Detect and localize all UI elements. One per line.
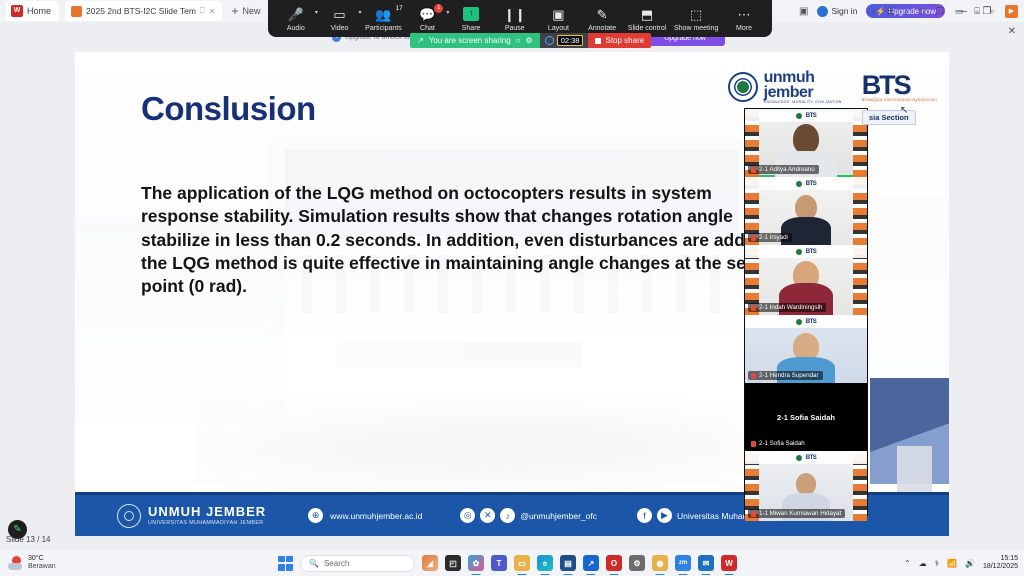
zoom-participant-video-strip[interactable]: BTS 2-1 Aditya Andreano BTS 2-1 Irsyadi … xyxy=(744,108,868,516)
zoom-control-video[interactable]: ▭ ▾ Video xyxy=(322,6,358,32)
weather-icon xyxy=(8,556,23,571)
zoom-control-label: Slide control xyxy=(628,25,667,32)
show-hidden-icons-button[interactable]: ⌃ xyxy=(904,559,911,568)
zoom-control-layout[interactable]: ▣ Layout xyxy=(540,6,576,32)
mic-muted-icon xyxy=(751,373,756,379)
network-icon[interactable]: 📶 xyxy=(947,559,957,568)
store-icon: ▤ xyxy=(564,559,572,568)
zoom-control-slide-control[interactable]: ⬒ Slide control xyxy=(628,6,667,32)
microphone-icon: 🎤 xyxy=(288,6,304,23)
slide-control-icon: ⬒ xyxy=(641,6,653,23)
unmuh-logo-line1: unmuh xyxy=(764,70,842,85)
participant-name-tag: 1-1 Miwan Kurniawan Hidayat xyxy=(748,509,845,518)
search-icon: 🔍 xyxy=(309,559,319,568)
taskbar-app-explorer-dark[interactable]: ◰ xyxy=(445,555,461,571)
clock-date: 18/12/2025 xyxy=(983,563,1018,571)
participant-head xyxy=(796,473,816,495)
outline-view-button[interactable]: ☰ xyxy=(886,6,894,17)
taskbar-app-opera[interactable]: O xyxy=(606,555,622,571)
new-tab-button[interactable]: + New xyxy=(232,5,261,17)
windows-taskbar: 30°C Berawan 🔍 Search ◢ ◰ ✿ T ▭ e ▤ ↗ O … xyxy=(0,550,1024,576)
avatar xyxy=(817,6,828,17)
taskbar-weather-widget[interactable]: 30°C Berawan xyxy=(8,555,56,570)
share-timer: 02:38 xyxy=(540,33,589,48)
screen-layout-icon[interactable]: ▣ xyxy=(799,6,808,17)
normal-view-button[interactable]: □ xyxy=(919,6,924,16)
banner-label: BTS xyxy=(806,455,817,461)
document-tab-title: 2025 2nd BTS-I2C Slide Templ xyxy=(86,6,196,16)
footer-social-handle: @unmuhjember_ofc xyxy=(520,511,597,521)
prev-slide-button[interactable]: ‹ xyxy=(872,6,875,16)
mic-muted-icon xyxy=(751,235,756,241)
slide-logo-group: unmuh jember KNOWLEDGE, MORALITY, CIVILI… xyxy=(728,70,937,105)
folder-icon: ▭ xyxy=(518,559,526,568)
start-slideshow-button[interactable]: ▶ xyxy=(1005,5,1018,18)
taskbar-app-matlab[interactable]: ↗ xyxy=(583,555,599,571)
zoom-control-pause[interactable]: ❙❙ Pause xyxy=(497,6,533,32)
health-icon[interactable]: ⚕ xyxy=(935,559,939,568)
taskbar-app-teams[interactable]: T xyxy=(491,555,507,571)
chat-bubble-icon: 💬 xyxy=(419,6,435,23)
banner-label: BTS xyxy=(806,249,817,255)
chevron-down-icon[interactable]: ▾ xyxy=(315,9,318,16)
taskbar-app-file-explorer[interactable]: ▭ xyxy=(514,555,530,571)
unmuh-logo-line2: jember xyxy=(764,85,842,100)
zoom-control-label: Chat xyxy=(420,25,435,32)
reading-view-button[interactable]: ❐ xyxy=(936,6,944,17)
taskbar-app-outlook[interactable]: ✉ xyxy=(698,555,714,571)
footer-website: ⊕ www.unmuhjember.ac.id xyxy=(308,508,422,523)
footer-website-text: www.unmuhjember.ac.id xyxy=(330,511,422,521)
home-tab[interactable]: W Home xyxy=(6,1,59,21)
taskbar-clock[interactable]: 15:15 18/12/2025 xyxy=(983,555,1018,570)
participant-name-tag: 2-1 Aditya Andreano xyxy=(748,165,819,174)
fit-view-button[interactable]: ▭ xyxy=(955,6,964,17)
system-tray: ⌃ ☁ ⚕ 📶 🔊 15:15 18/12/2025 xyxy=(904,550,1018,576)
chrome-icon: ◉ xyxy=(657,559,664,568)
zoom-control-share[interactable]: ↑ Share xyxy=(453,6,489,32)
unmuh-logo-tagline: KNOWLEDGE, MORALITY, CIVILIZATION xyxy=(764,101,842,104)
bts-logo-subtitle: Brawijaya International Symposium xyxy=(862,97,937,102)
chevron-down-icon[interactable]: ▾ xyxy=(358,9,361,16)
next-slide-button[interactable]: › xyxy=(905,6,908,16)
footer-unmuh-logo: UNMUH JEMBER UNIVERSITAS MUHAMMADIYAH JE… xyxy=(117,504,266,528)
participant-name: 1-1 Miwan Kurniawan Hidayat xyxy=(759,510,841,517)
tab-close-icon[interactable]: ✕ xyxy=(209,7,216,16)
start-button[interactable] xyxy=(278,556,293,571)
taskbar-app-zoom[interactable]: zm xyxy=(675,555,691,571)
chat-unread-badge: 1 xyxy=(434,4,443,13)
zoom-control-annotate[interactable]: ✎ Annotate xyxy=(584,6,620,32)
document-tab[interactable]: 2025 2nd BTS-I2C Slide Templ ⎕ ✕ xyxy=(65,1,222,21)
copilot-icon: ✿ xyxy=(473,559,480,568)
zoom-control-label: Annotate xyxy=(588,25,616,32)
screen-sharing-status-bar: ↗ You are screen sharing ○ ⚙ 02:38 Stop … xyxy=(410,33,651,48)
participant-name: 2-1 Indah Wardiningsih xyxy=(759,304,822,311)
pause-share-icon[interactable]: ○ xyxy=(516,36,521,45)
onedrive-icon[interactable]: ☁ xyxy=(919,559,927,568)
footer-social-group: ◎ ✕ ♪ @unmuhjember_ofc xyxy=(460,508,597,523)
video-tile[interactable]: BTS 2-1 Aditya Andreano xyxy=(745,109,867,177)
zoom-control-label: More xyxy=(736,25,752,32)
show-meeting-icon: ⬚ xyxy=(690,6,702,23)
zoom-control-audio[interactable]: 🎤 ▾ Audio xyxy=(278,6,314,32)
photos-icon: ◢ xyxy=(427,559,433,568)
participant-name-tag: 2-1 Indah Wardiningsih xyxy=(748,303,826,312)
participant-head xyxy=(793,124,819,154)
globe-icon: ⊕ xyxy=(308,508,323,523)
matlab-icon: ↗ xyxy=(588,559,595,568)
video-tile[interactable]: BTS 2-1 Hendra Supendar xyxy=(745,315,867,383)
share-settings-icon[interactable]: ⚙ xyxy=(526,36,533,45)
video-tile[interactable]: BTS 2-1 Indah Wardiningsih xyxy=(745,245,867,315)
clock-time: 15:15 xyxy=(983,555,1018,563)
bts-logo: BTS Brawijaya International Symposium xyxy=(862,73,937,102)
share-screen-icon: ↑ xyxy=(463,6,479,23)
zoom-control-show-meeting[interactable]: ⬚ Show meeting xyxy=(674,6,718,32)
opera-icon: O xyxy=(611,559,617,568)
banner-label: BTS xyxy=(806,319,817,325)
video-backdrop-banner: BTS xyxy=(745,177,867,190)
zoom-control-label: Video xyxy=(331,25,349,32)
zoom-control-participants[interactable]: 👥 17 Participants xyxy=(365,6,402,32)
pencil-icon: ✎ xyxy=(597,6,608,23)
participant-name: 2-1 Irsyadi xyxy=(759,234,788,241)
participant-name-tag: 2-1 Sofia Saidah xyxy=(748,439,809,448)
gear-icon: ⚙ xyxy=(633,559,640,568)
notes-view-button[interactable]: ▫ xyxy=(991,6,994,16)
people-icon: 👥 xyxy=(375,6,391,23)
banner-label: BTS xyxy=(806,181,817,187)
video-backdrop-banner: BTS xyxy=(745,245,867,258)
sharing-indicator: ↗ You are screen sharing ○ ⚙ xyxy=(410,33,540,48)
footer-seal-icon xyxy=(117,504,141,528)
slide-view-controls: ‹ ☰ › □ ❐ ▭ ⌸ ▫ ▶ xyxy=(872,0,1018,22)
more-dots-icon: ⋯ xyxy=(738,6,751,23)
stop-share-button[interactable]: Stop share xyxy=(588,33,651,48)
home-tab-label: Home xyxy=(27,6,51,16)
presentation-file-icon xyxy=(71,6,82,17)
video-tile[interactable]: BTS 1-1 Miwan Kurniawan Hidayat xyxy=(745,451,867,521)
taskbar-app-chrome[interactable]: ◉ xyxy=(652,555,668,571)
zoom-control-label: Participants xyxy=(365,25,402,32)
stop-square-icon xyxy=(595,38,601,44)
unmuh-jember-logo: unmuh jember KNOWLEDGE, MORALITY, CIVILI… xyxy=(728,70,842,105)
chevron-down-icon[interactable]: ▾ xyxy=(446,9,449,16)
explorer-dark-icon: ◰ xyxy=(449,559,457,568)
weather-description: Berawan xyxy=(28,563,56,571)
video-backdrop-banner: BTS xyxy=(745,451,867,464)
mic-muted-icon xyxy=(751,511,756,517)
teams-icon: T xyxy=(497,559,502,568)
video-backdrop-banner: BTS xyxy=(745,109,867,122)
camera-icon: ▭ xyxy=(333,6,345,23)
clock-icon xyxy=(545,36,554,45)
video-tile[interactable]: 2-1 Sofia Saidah 2-1 Sofia Saidah xyxy=(745,383,867,451)
share-arrow-icon: ↗ xyxy=(417,36,424,45)
participant-name-tag: 2-1 Irsyadi xyxy=(748,233,792,242)
pause-icon: ❙❙ xyxy=(504,6,526,23)
taskbar-search-box[interactable]: 🔍 Search xyxy=(300,555,415,572)
mic-muted-icon xyxy=(751,167,756,173)
video-tile[interactable]: BTS 2-1 Irsyadi xyxy=(745,177,867,245)
taskbar-app-store[interactable]: ▤ xyxy=(560,555,576,571)
taskbar-app-wps[interactable]: W xyxy=(721,555,737,571)
participant-name-tag: 2-1 Hendra Supendar xyxy=(748,371,823,380)
participant-display-name: 2-1 Sofia Saidah xyxy=(777,413,835,422)
sign-in-button[interactable]: Sign in xyxy=(817,6,857,17)
participant-name: 2-1 Sofia Saidah xyxy=(759,440,805,447)
taskbar-app-edge[interactable]: e xyxy=(537,555,553,571)
outlook-icon: ✉ xyxy=(703,559,710,568)
edge-icon: e xyxy=(543,559,547,568)
grid-view-button[interactable]: ⌸ xyxy=(974,6,979,17)
unmuh-seal-icon xyxy=(728,72,758,102)
sign-in-label: Sign in xyxy=(831,6,857,16)
zoom-control-chat[interactable]: 💬 1 ▾ Chat xyxy=(409,6,445,32)
taskbar-center-group: 🔍 Search ◢ ◰ ✿ T ▭ e ▤ ↗ O ⚙ ◉ zm ✉ W xyxy=(278,550,737,576)
video-backdrop-banner: BTS xyxy=(745,315,867,328)
participant-name: 2-1 Hendra Supendar xyxy=(759,372,819,379)
sharing-text: You are screen sharing xyxy=(429,36,511,45)
mic-muted-icon xyxy=(751,441,756,447)
slide-body-text[interactable]: The application of the LQG method on oct… xyxy=(141,182,781,298)
taskbar-app-photos[interactable]: ◢ xyxy=(422,555,438,571)
annotation-pen-badge[interactable]: ✎ xyxy=(8,520,27,539)
layout-icon: ▣ xyxy=(552,6,564,23)
footer-brand-sub: UNIVERSITAS MUHAMMADIYAH JEMBER xyxy=(148,520,266,526)
taskbar-app-copilot[interactable]: ✿ xyxy=(468,555,484,571)
zoom-control-label: Pause xyxy=(505,25,525,32)
secondary-close-icon[interactable]: ✕ xyxy=(1008,26,1016,37)
volume-icon[interactable]: 🔊 xyxy=(965,559,975,568)
youtube-icon: ▶ xyxy=(657,508,672,523)
x-twitter-icon: ✕ xyxy=(480,508,495,523)
mouse-cursor-icon: ↖ xyxy=(900,105,908,116)
zoom-control-more[interactable]: ⋯ More xyxy=(726,6,762,32)
participant-count: 17 xyxy=(396,5,403,12)
wps-logo-icon: W xyxy=(11,5,23,17)
weather-temperature: 30°C xyxy=(28,555,56,563)
bts-logo-text: BTS xyxy=(862,73,937,97)
taskbar-app-settings[interactable]: ⚙ xyxy=(629,555,645,571)
instagram-icon: ◎ xyxy=(460,508,475,523)
zoom-control-label: Audio xyxy=(287,25,305,32)
zoom-control-label: Show meeting xyxy=(674,25,718,32)
zoom-control-label: Layout xyxy=(548,25,569,32)
mic-muted-icon xyxy=(751,305,756,311)
tiktok-icon: ♪ xyxy=(500,508,515,523)
footer-brand: UNMUH JEMBER xyxy=(148,505,266,518)
zoom-icon: zm xyxy=(679,560,687,566)
plus-icon: + xyxy=(232,5,239,17)
new-tab-label: New xyxy=(243,6,261,16)
zoom-control-label: Share xyxy=(462,25,481,32)
zoom-meeting-toolbar: 🎤 ▾ Audio ▭ ▾ Video 👥 17 Participants 💬 … xyxy=(268,0,772,37)
share-timer-value: 02:38 xyxy=(557,35,584,46)
slide-title[interactable]: Conslusion xyxy=(141,90,316,128)
participant-name: 2-1 Aditya Andreano xyxy=(759,166,815,173)
banner-label: BTS xyxy=(806,113,817,119)
wps-icon: W xyxy=(725,559,733,568)
facebook-icon: f xyxy=(637,508,652,523)
tab-monitor-icon[interactable]: ⎕ xyxy=(200,6,205,16)
search-placeholder: Search xyxy=(324,559,349,568)
stop-share-label: Stop share xyxy=(605,36,644,45)
